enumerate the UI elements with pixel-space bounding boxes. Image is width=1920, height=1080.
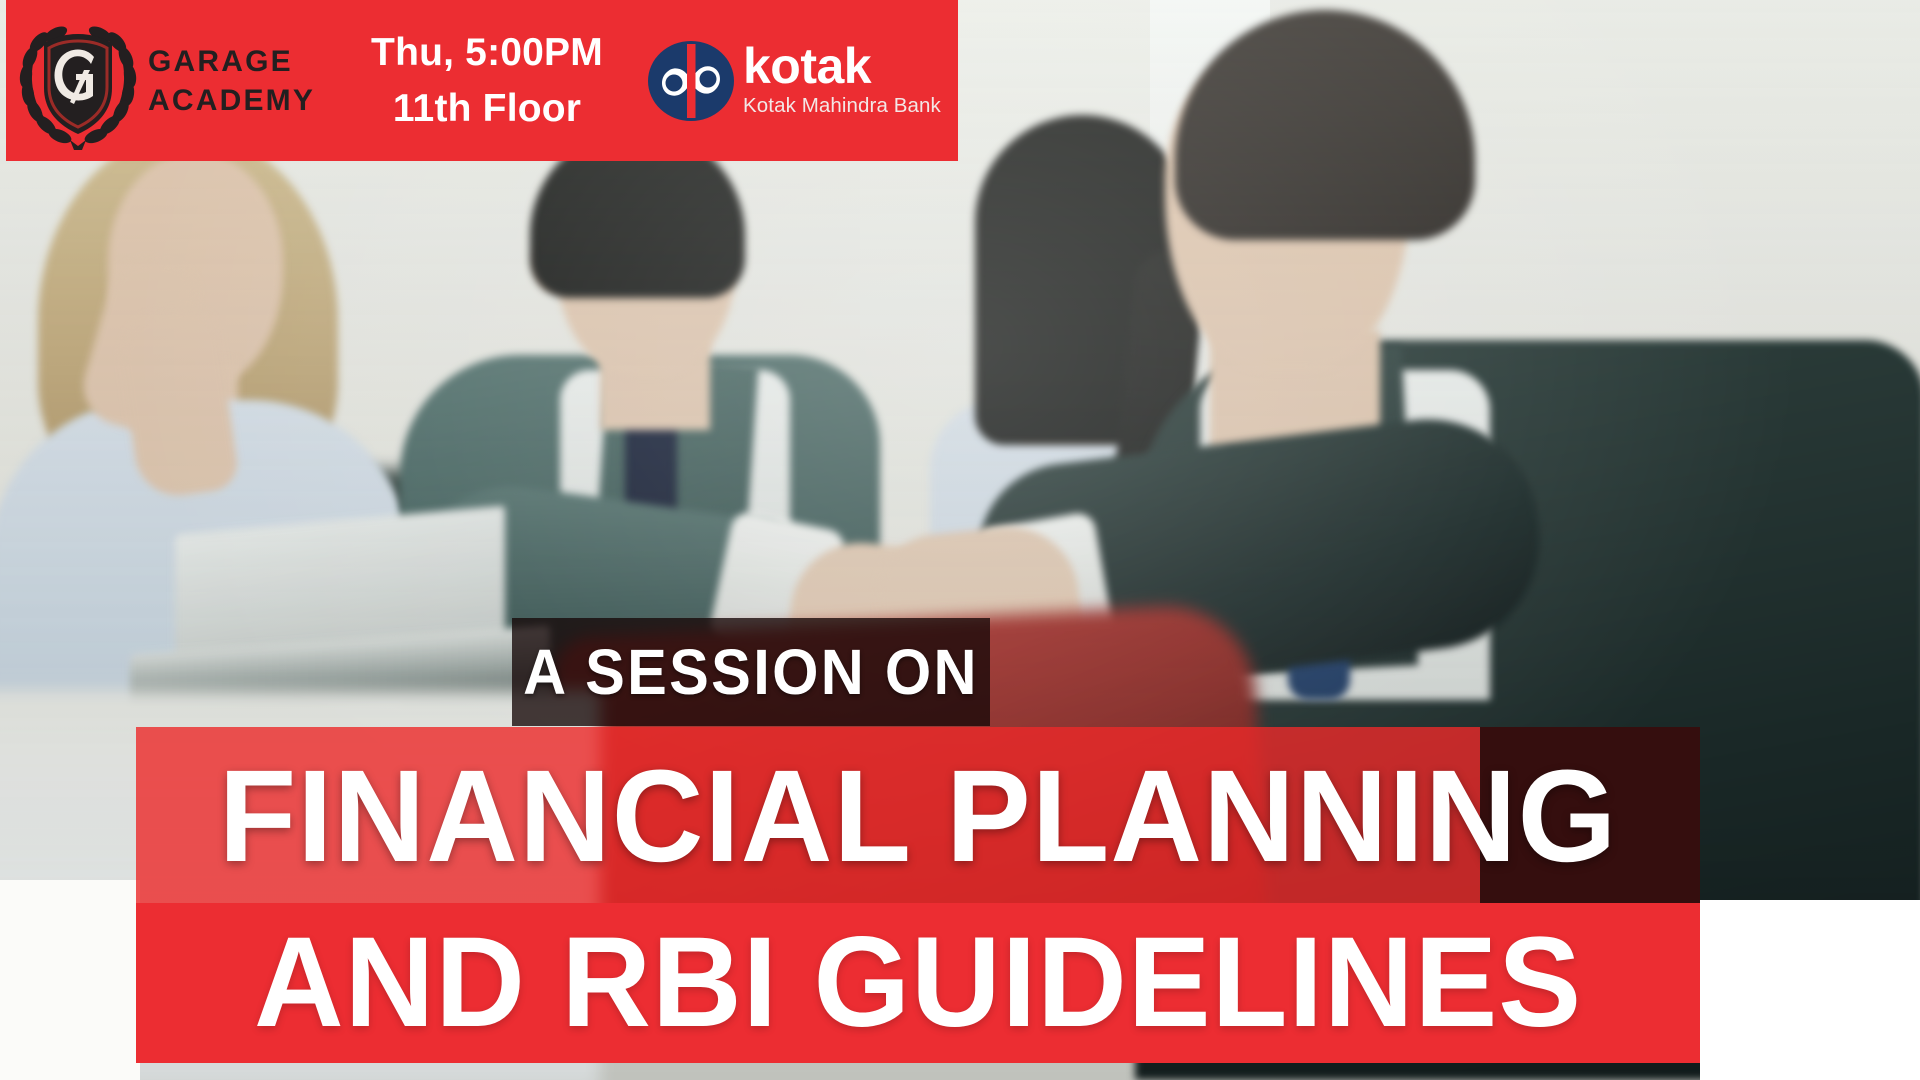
eyebrow-band: A SESSION ON bbox=[512, 618, 990, 726]
event-time: Thu, 5:00PM bbox=[326, 25, 648, 80]
headline-line1: FINANCIAL PLANNING bbox=[159, 727, 1676, 903]
kotak-sponsor-lockup: kotak Kotak Mahindra Bank bbox=[648, 38, 948, 124]
kotak-text-block: kotak Kotak Mahindra Bank bbox=[743, 43, 941, 118]
garage-academy-lockup: GARAGE ACADEMY bbox=[12, 12, 332, 150]
headline-block: A SESSION ON FINANCIAL PLANNING AND RBI … bbox=[0, 0, 1920, 1080]
event-schedule: Thu, 5:00PM 11th Floor bbox=[326, 25, 648, 136]
laurel-shield-crest-icon bbox=[12, 12, 144, 150]
kotak-infinity-mark-icon bbox=[648, 38, 734, 124]
headline-eyebrow: A SESSION ON bbox=[523, 640, 979, 704]
header-banner: GARAGE ACADEMY Thu, 5:00PM 11th Floor bbox=[6, 0, 958, 161]
event-poster: GARAGE ACADEMY Thu, 5:00PM 11th Floor bbox=[0, 0, 1920, 1080]
event-location: 11th Floor bbox=[326, 81, 648, 136]
kotak-tagline: Kotak Mahindra Bank bbox=[743, 94, 941, 118]
academy-name-line1: GARAGE bbox=[148, 42, 315, 81]
headline-line2: AND RBI GUIDELINES bbox=[159, 903, 1676, 1063]
academy-name-line2: ACADEMY bbox=[148, 81, 315, 120]
kotak-wordmark: kotak bbox=[743, 43, 941, 90]
garage-academy-wordmark: GARAGE ACADEMY bbox=[148, 42, 315, 120]
